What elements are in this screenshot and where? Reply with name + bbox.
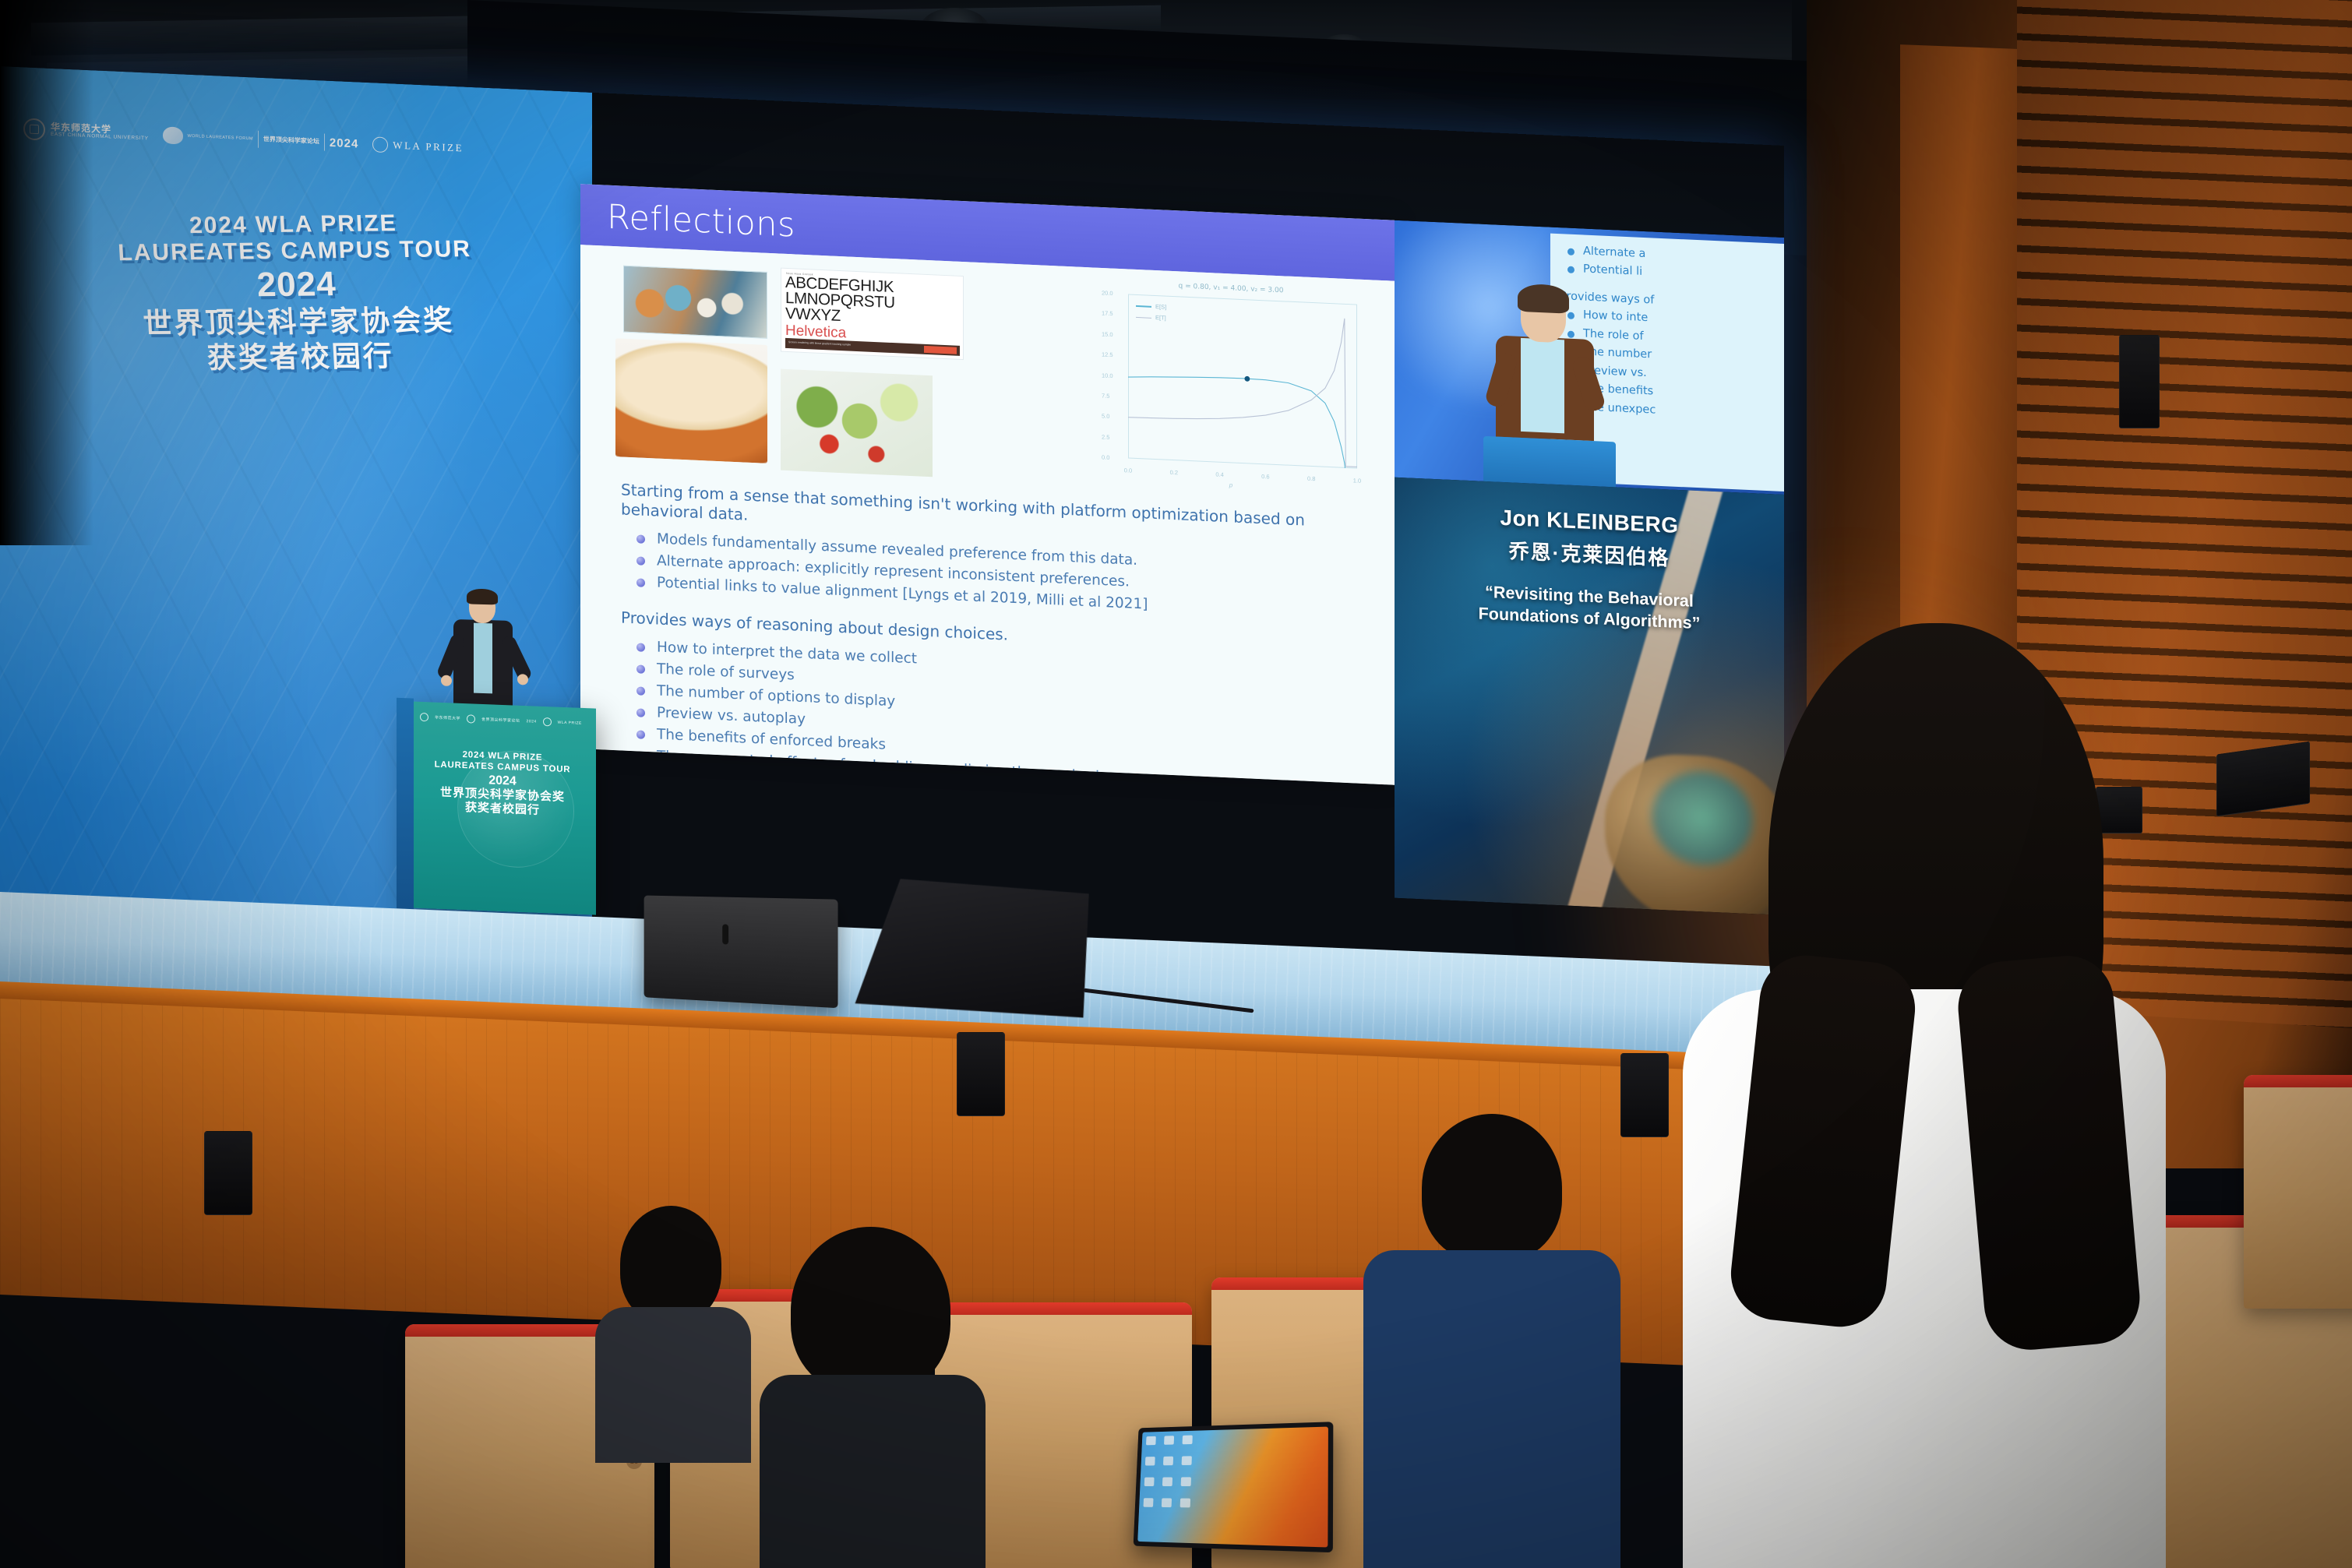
chart-xtick: 0.4 <box>1215 470 1223 477</box>
stage-front-speaker <box>1620 1053 1669 1137</box>
desktop-icon[interactable] <box>1144 1478 1155 1486</box>
slide-body: Neue Haas Grotesk ABCDEFGHIJK LMNOPQRSTU… <box>580 245 1395 785</box>
attendee-torso <box>595 1307 751 1463</box>
auditorium-scene: 华东师范大学 EAST CHINA NORMAL UNIVERSITY WORL… <box>0 0 2352 1568</box>
desktop-icon[interactable] <box>1146 1436 1156 1446</box>
attendee-left <box>592 1206 756 1439</box>
chart-plot-area <box>1128 294 1357 468</box>
chart-xtick: 0.2 <box>1170 469 1178 476</box>
helvetica-type-specimen: Neue Haas Grotesk ABCDEFGHIJK LMNOPQRSTU… <box>781 268 964 360</box>
chart-xtick: 0.6 <box>1261 473 1269 480</box>
podium-forum-cn: 世界顶尖科学家论坛 <box>481 717 520 724</box>
chart-ytick: 0.0 <box>1102 453 1109 460</box>
logo-year: 2024 <box>330 136 358 150</box>
wlf-name-en: WORLD LAUREATES FORUM <box>188 134 253 142</box>
attendee-laptop[interactable] <box>1134 1422 1334 1552</box>
attendee-center <box>767 1227 970 1568</box>
attendee-torso <box>1363 1250 1620 1568</box>
chart-ytick: 20.0 <box>1102 289 1113 297</box>
chips-bowl-photo <box>615 338 767 463</box>
prize-seal-icon <box>372 136 388 153</box>
salad-photo <box>781 369 933 477</box>
left-edge-shadow <box>0 0 93 545</box>
presenter-hair <box>467 588 498 604</box>
chart-xtick: 0.8 <box>1307 475 1315 482</box>
podium-headline: 2024 WLA PRIZE LAUREATES CAMPUS TOUR 202… <box>409 748 596 819</box>
wlf-mark-icon <box>163 126 183 144</box>
chart-ytick: 12.5 <box>1102 351 1113 359</box>
stage-front-speaker <box>204 1131 252 1215</box>
desktop-icon[interactable] <box>1182 1456 1192 1465</box>
podium-logo-row: 华东师范大学 世界顶尖科学家论坛 2024 WLA PRIZE <box>420 713 588 728</box>
attendee-hair <box>791 1227 950 1394</box>
chart-xtick: 1.0 <box>1353 477 1361 484</box>
presenter-shirt <box>474 623 492 694</box>
chart-ytick: 7.5 <box>1102 392 1109 399</box>
backdrop-headline: 2024 WLA PRIZE LAUREATES CAMPUS TOUR 202… <box>12 209 582 379</box>
attendee-hair <box>1422 1114 1562 1262</box>
chart-ytick: 17.5 <box>1102 310 1113 318</box>
desktop-icon[interactable] <box>1145 1457 1155 1465</box>
live-camera-feed: Alternate a Potential li Provides ways o… <box>1395 220 1784 495</box>
speaker-figure <box>1486 287 1603 487</box>
desktop-icon[interactable] <box>1164 1436 1174 1445</box>
desktop-icons[interactable] <box>1143 1435 1198 1517</box>
wla-prize-logo: WLA PRIZE <box>372 136 464 156</box>
chart-ytick: 10.0 <box>1102 372 1113 379</box>
specimen-accent-swatch <box>924 346 957 354</box>
desktop-icon[interactable] <box>1162 1498 1172 1507</box>
presenter-hand-left <box>441 675 452 686</box>
desktop-icon[interactable] <box>1163 1457 1173 1466</box>
wla-prize-wordmark: WLA PRIZE <box>393 139 464 154</box>
wlf-name-cn: 世界顶尖科学家论坛 <box>263 136 319 146</box>
chart-ytick: 5.0 <box>1102 413 1109 420</box>
standing-woman-foreground <box>1667 623 2166 1568</box>
podium-year: 2024 <box>527 719 537 724</box>
podium-university-cn: 华东师范大学 <box>435 715 460 721</box>
chart-ytick: 15.0 <box>1102 330 1113 338</box>
presentation-slide: Reflections Neue Haas Grotesk ABCDEFGHIJ… <box>580 184 1395 785</box>
chart-series-1 <box>1128 308 1357 467</box>
slide-title: Reflections <box>607 198 795 245</box>
podium-ecnu-seal-icon <box>420 713 428 721</box>
specimen-micro-bar: Screen rendering with linear gradient tr… <box>788 340 851 347</box>
wall-speaker <box>2119 335 2160 428</box>
chart-marked-point <box>1244 376 1250 382</box>
podium-prize-seal-icon <box>543 717 552 726</box>
stage-front-speaker <box>957 1032 1005 1116</box>
desktop-icon[interactable] <box>1162 1477 1172 1486</box>
slide-media-group: Neue Haas Grotesk ABCDEFGHIJK LMNOPQRSTU… <box>615 260 1052 482</box>
chart-xtick: 0.0 <box>1124 467 1132 474</box>
chart-ytick: 2.5 <box>1102 433 1109 440</box>
headline-cn-2: 获奖者校园行 <box>19 337 581 378</box>
led-stage-screen: 华东师范大学 EAST CHINA NORMAL UNIVERSITY WORL… <box>0 66 1784 1014</box>
headline-year: 2024 <box>16 263 578 308</box>
desktop-icon[interactable] <box>1144 1498 1154 1507</box>
presenter-hand-right <box>517 674 528 685</box>
podium: 华东师范大学 世界顶尖科学家论坛 2024 WLA PRIZE 2024 WLA… <box>409 701 596 914</box>
podium-prize: WLA PRIZE <box>558 720 582 725</box>
wall-speaker <box>2216 742 2310 817</box>
stage-floor-speaker <box>644 896 838 1009</box>
attendee-torso <box>760 1375 986 1568</box>
laptop-screen[interactable] <box>1137 1427 1328 1548</box>
audience-seat[interactable] <box>2244 1075 2352 1309</box>
chart-xlabel: p <box>1229 481 1232 488</box>
podium-wlf-seal-icon <box>467 714 475 723</box>
divider <box>324 134 325 151</box>
desktop-icon[interactable] <box>1181 1477 1191 1486</box>
speaker-shirt <box>1521 338 1564 433</box>
attendee-hair <box>620 1206 721 1323</box>
attendee-right <box>1379 1114 1605 1566</box>
slide-bullet-list-2: How to interpret the data we collectThe … <box>621 635 1363 785</box>
painting-thumbnail <box>623 266 767 339</box>
headline-line-2: LAUREATES CAMPUS TOUR <box>14 234 576 267</box>
chart-series-0 <box>1128 373 1357 468</box>
desktop-icon[interactable] <box>1183 1435 1193 1444</box>
slide-text-block: Starting from a sense that something isn… <box>621 480 1363 784</box>
headline-cn-1: 世界顶尖科学家协会奖 <box>18 301 580 343</box>
desktop-icon[interactable] <box>1180 1499 1190 1508</box>
divider <box>258 131 259 148</box>
slide-chart: q = 0.80, v₁ = 4.00, v₂ = 3.00 E[S] E[T]… <box>1091 278 1371 497</box>
